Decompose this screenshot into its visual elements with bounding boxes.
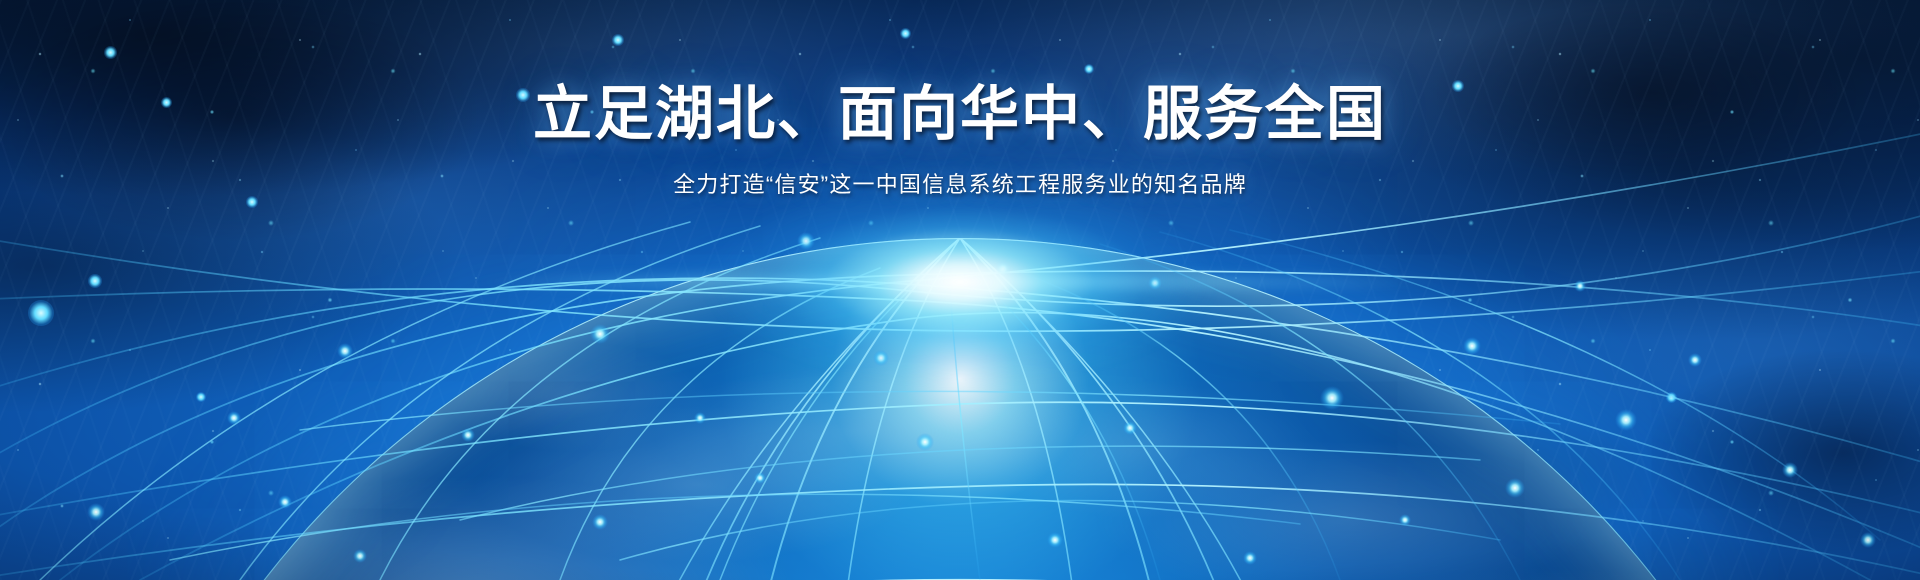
banner-subheadline: 全力打造“信安”这一中国信息系统工程服务业的知名品牌 — [0, 172, 1920, 198]
banner-copy: 立足湖北、面向华中、服务全国 全力打造“信安”这一中国信息系统工程服务业的知名品… — [0, 84, 1920, 198]
hero-banner: 立足湖北、面向华中、服务全国 全力打造“信安”这一中国信息系统工程服务业的知名品… — [0, 0, 1920, 580]
banner-headline: 立足湖北、面向华中、服务全国 — [0, 84, 1920, 146]
